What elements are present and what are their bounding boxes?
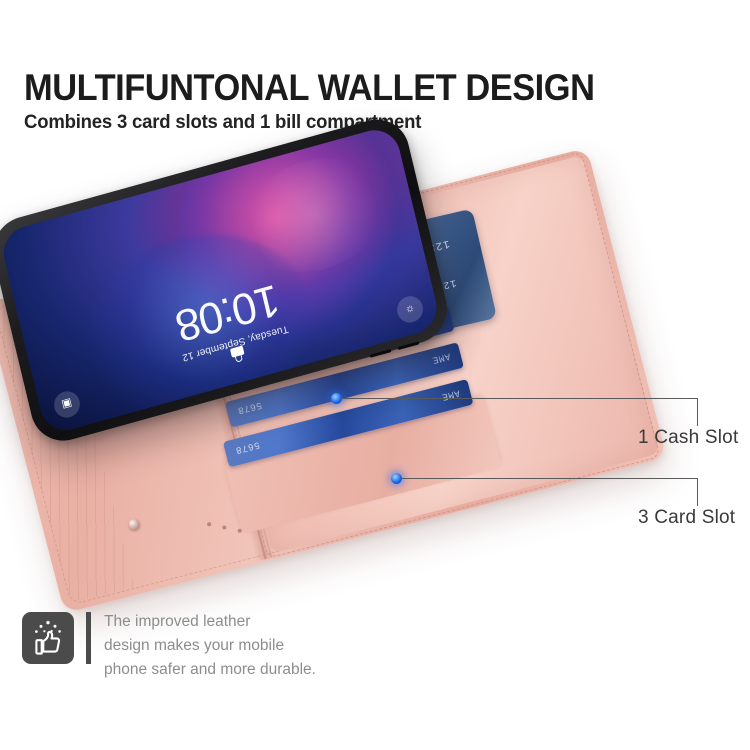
card-slot-3-text-right: AME — [441, 387, 462, 402]
footer-text: The improved leather design makes your m… — [104, 610, 316, 682]
footer-line-1: The improved leather — [104, 610, 316, 634]
callout-label-cash-slot: 1 Cash Slot — [638, 427, 738, 449]
card-slot-3-text-left: 5678 — [234, 439, 261, 456]
card-slot-2-text-right: AME — [431, 351, 452, 366]
footer-divider — [86, 612, 91, 664]
product-infographic: MULTIFUNTONAL WALLET DESIGN Combines 3 c… — [0, 0, 750, 750]
footer-note: The improved leather design makes your m… — [0, 600, 750, 710]
cash-slot-leader-line — [341, 398, 698, 399]
footer-line-3: phone safer and more durable. — [104, 658, 316, 682]
cash-slot-leader-tick — [697, 398, 698, 426]
product-photo: 5678 1234 1234 00/00 5678 AME 5678 AME 5… — [0, 160, 750, 610]
camera-icon[interactable]: ▣ — [51, 388, 82, 420]
card-slot-2-text-left: 5678 — [236, 399, 263, 416]
callout-label-card-slot: 3 Card Slot — [638, 507, 735, 529]
card-slot-leader-tick — [697, 478, 698, 506]
footer-line-2: design makes your mobile — [104, 634, 316, 658]
card-slot-leader-line — [401, 478, 698, 479]
thumbs-up-icon — [22, 612, 74, 664]
page-title: MULTIFUNTONAL WALLET DESIGN — [24, 68, 594, 108]
flashlight-icon[interactable]: ☼ — [394, 293, 425, 325]
